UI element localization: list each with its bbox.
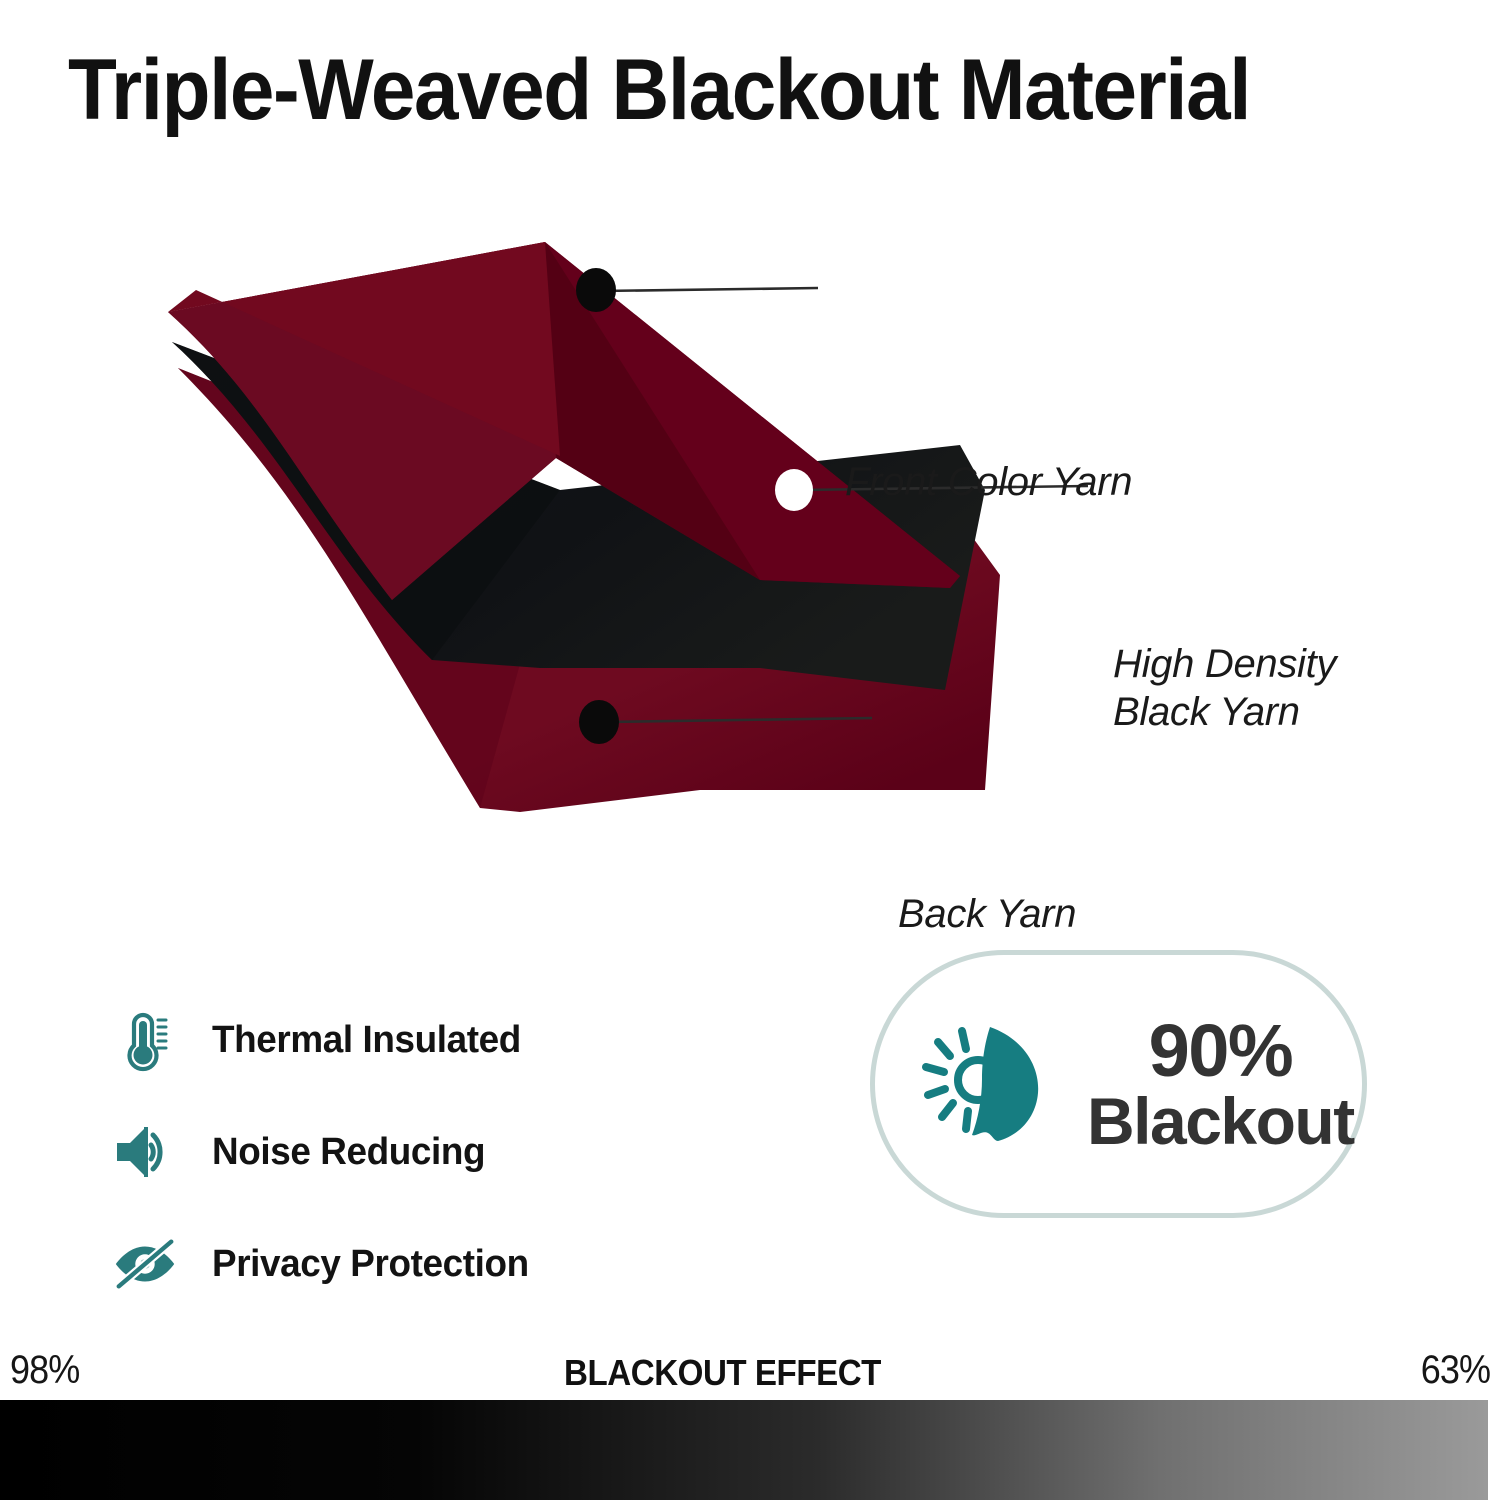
scale-title: BLACKOUT EFFECT — [58, 1352, 1387, 1394]
marker-high-density-black-yarn — [775, 469, 813, 511]
feature-label-privacy-protection: Privacy Protection — [212, 1243, 529, 1286]
badge-word-label: Blackout — [1087, 1088, 1354, 1155]
marker-front-color-yarn — [576, 268, 616, 312]
page-title: Triple-Weaved Blackout Material — [68, 40, 1370, 140]
callout-label-high-density-black-yarn: High Density Black Yarn — [1113, 640, 1336, 736]
feature-item-noise-reducing: Noise Reducing — [110, 1107, 670, 1197]
speaker-icon — [110, 1116, 180, 1188]
feature-item-privacy-protection: Privacy Protection — [110, 1219, 670, 1309]
badge-percent-value: 90% — [1087, 1013, 1354, 1088]
fabric-layer-diagram: Front Color Yarn High Density Black Yarn… — [0, 190, 1500, 870]
marker-back-yarn — [579, 700, 619, 744]
callout-label-front-color-yarn: Front Color Yarn — [845, 458, 1132, 506]
blackout-badge: 90% Blackout — [870, 950, 1367, 1218]
feature-item-thermal-insulated: Thermal Insulated — [110, 995, 670, 1085]
blackout-effect-scale: 98% BLACKOUT EFFECT 63% — [0, 1330, 1500, 1500]
eye-slash-icon — [110, 1228, 180, 1300]
badge-text: 90% Blackout — [1087, 1013, 1370, 1156]
sun-blocked-icon — [897, 999, 1087, 1169]
scale-label-right: 63% — [1421, 1348, 1490, 1393]
callout-label-back-yarn: Back Yarn — [898, 890, 1076, 938]
blackout-gradient-bar — [0, 1400, 1488, 1500]
features-list: Thermal Insulated Noise Reducing Privacy… — [110, 995, 670, 1331]
feature-label-noise-reducing: Noise Reducing — [212, 1131, 485, 1174]
feature-label-thermal-insulated: Thermal Insulated — [212, 1019, 521, 1062]
thermometer-icon — [110, 1004, 180, 1076]
